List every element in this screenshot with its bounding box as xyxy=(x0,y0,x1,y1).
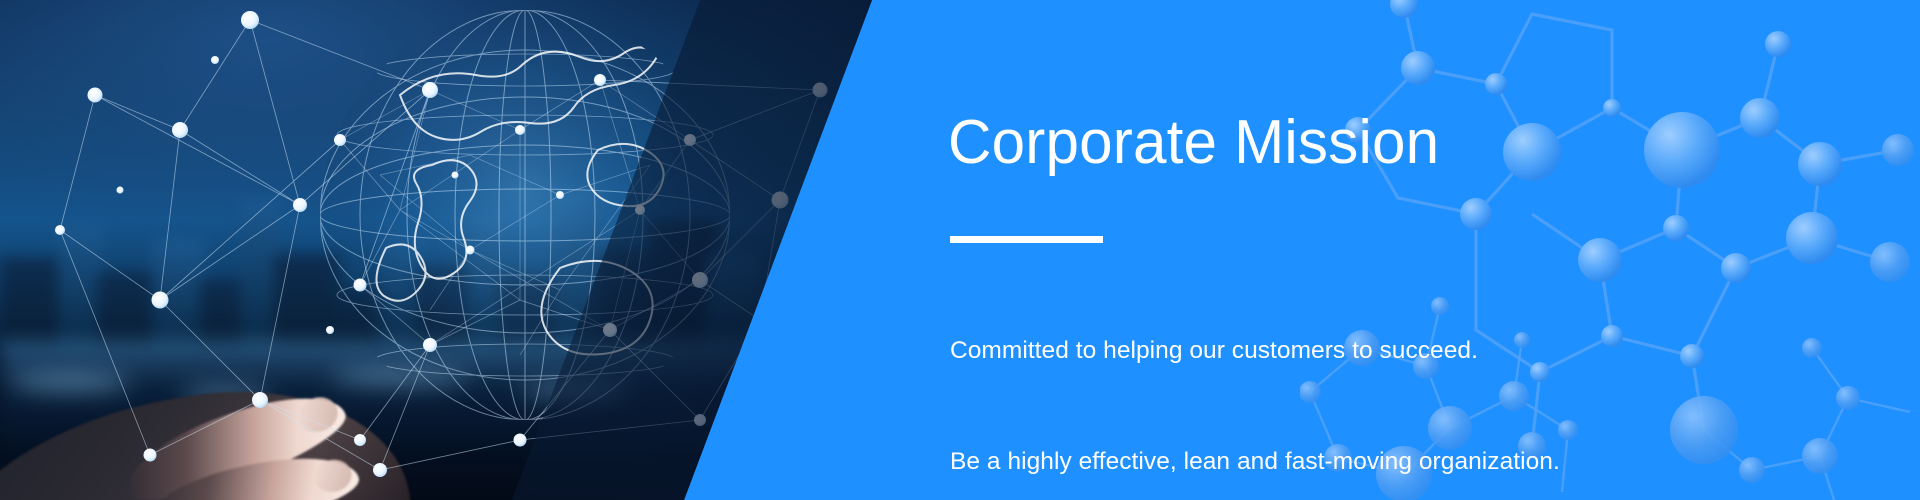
mission-line-1: Committed to helping our customers to su… xyxy=(950,332,1670,369)
mission-statement: Committed to helping our customers to su… xyxy=(950,258,1670,500)
mission-line-2: Be a highly effective, lean and fast-mov… xyxy=(950,443,1670,480)
hero-photo xyxy=(0,0,900,500)
corporate-mission-banner: Corporate Mission Committed to helping o… xyxy=(0,0,1920,500)
title-divider xyxy=(950,236,1103,243)
banner-content: Corporate Mission Committed to helping o… xyxy=(948,0,1768,500)
network-globe-overlay xyxy=(0,0,900,500)
page-title: Corporate Mission xyxy=(948,112,1439,174)
